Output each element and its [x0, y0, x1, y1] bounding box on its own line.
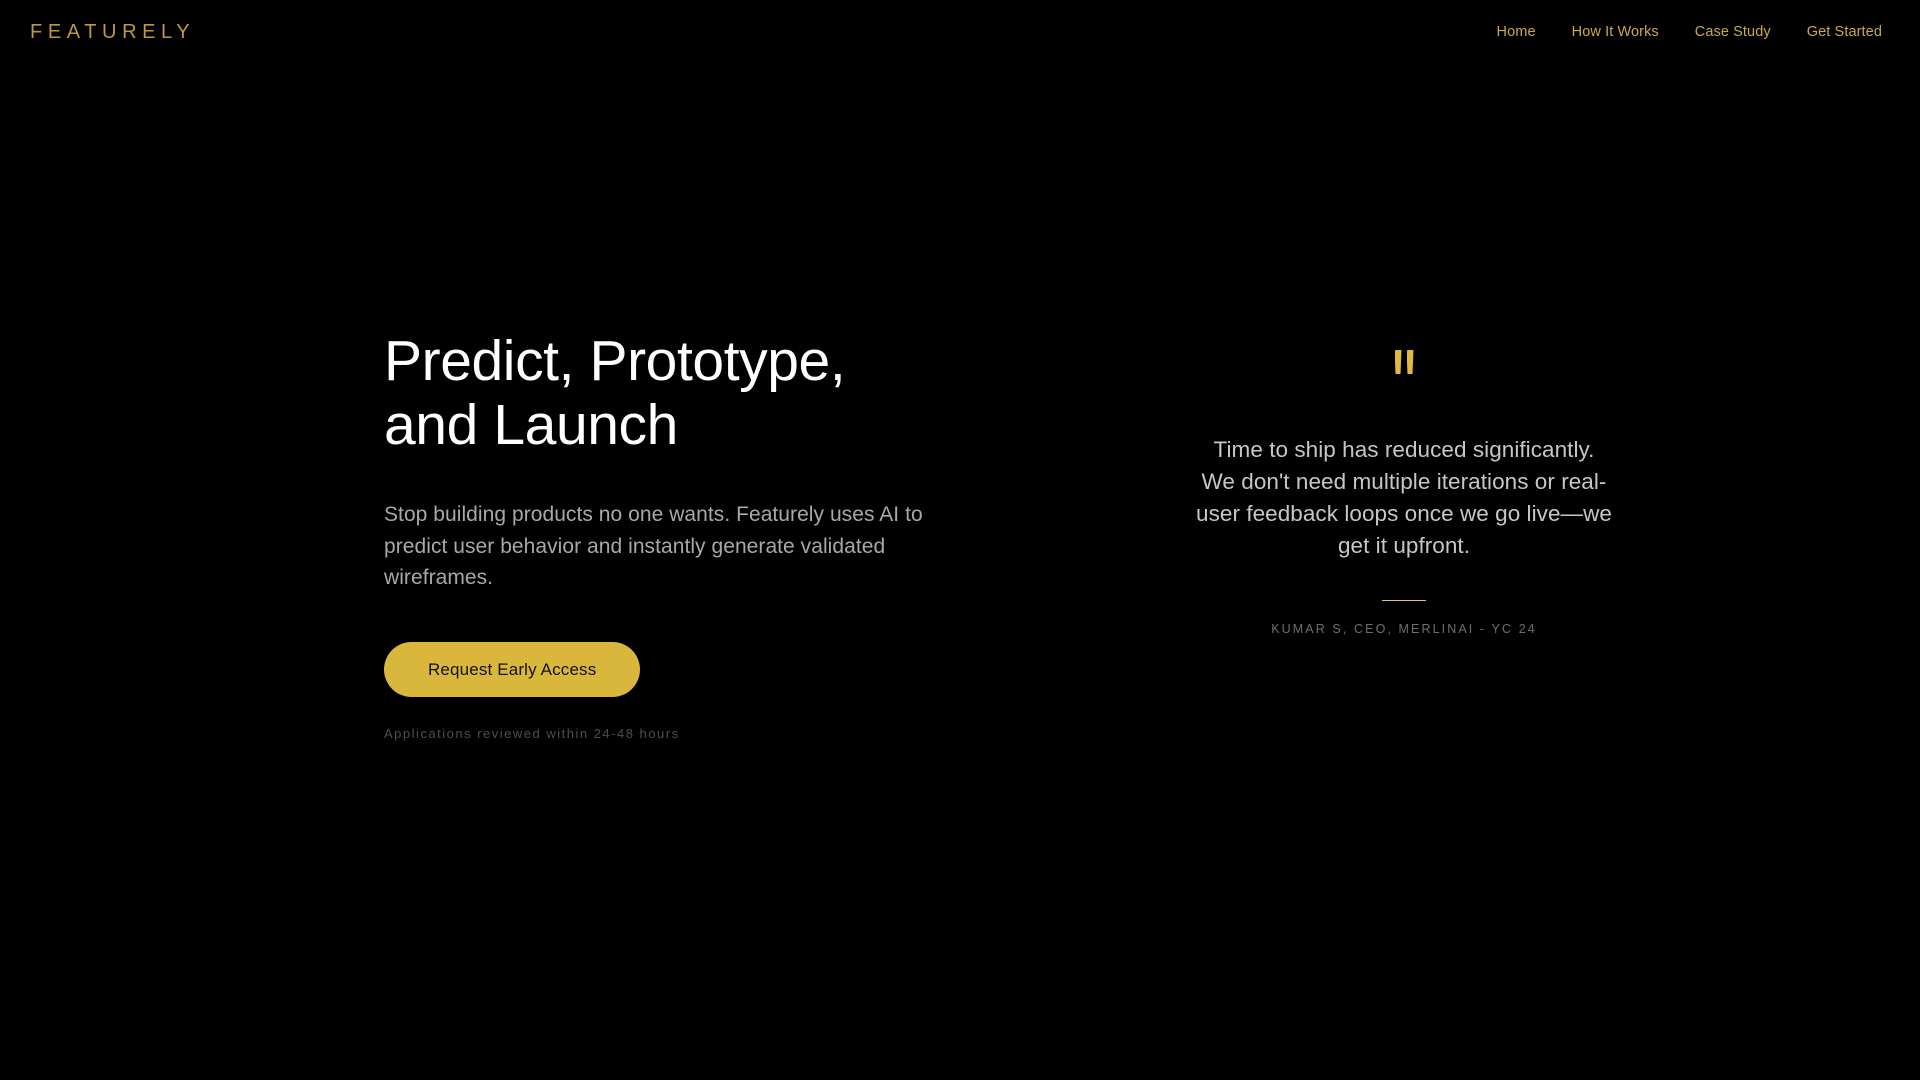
- hero-headline: Predict, Prototype, and Launch: [384, 330, 1004, 458]
- landing-page: FEATURELY Home How It Works Case Study G…: [0, 0, 1920, 1080]
- testimonial-column: Time to ship has reduced significantly. …: [1154, 330, 1654, 1080]
- quote-bar-right: [1407, 350, 1414, 374]
- testimonial-divider: [1382, 600, 1426, 601]
- testimonial-author: KUMAR S, CEO, MERLINAI - YC 24: [1271, 623, 1537, 636]
- hero-cta-wrapper: Request Early Access: [384, 642, 1004, 697]
- hero-subheadline: Stop building products no one wants. Fea…: [384, 499, 924, 595]
- hero-copy-column: Predict, Prototype, and Launch Stop buil…: [384, 330, 1004, 1080]
- hero-section: Predict, Prototype, and Launch Stop buil…: [0, 0, 1920, 1080]
- quote-mark-icon: [1395, 350, 1414, 376]
- quote-bar-left: [1395, 350, 1402, 374]
- testimonial-quote-text: Time to ship has reduced significantly. …: [1194, 434, 1614, 562]
- hero-cta-note: Applications reviewed within 24-48 hours: [384, 727, 1004, 740]
- request-early-access-button[interactable]: Request Early Access: [384, 642, 640, 697]
